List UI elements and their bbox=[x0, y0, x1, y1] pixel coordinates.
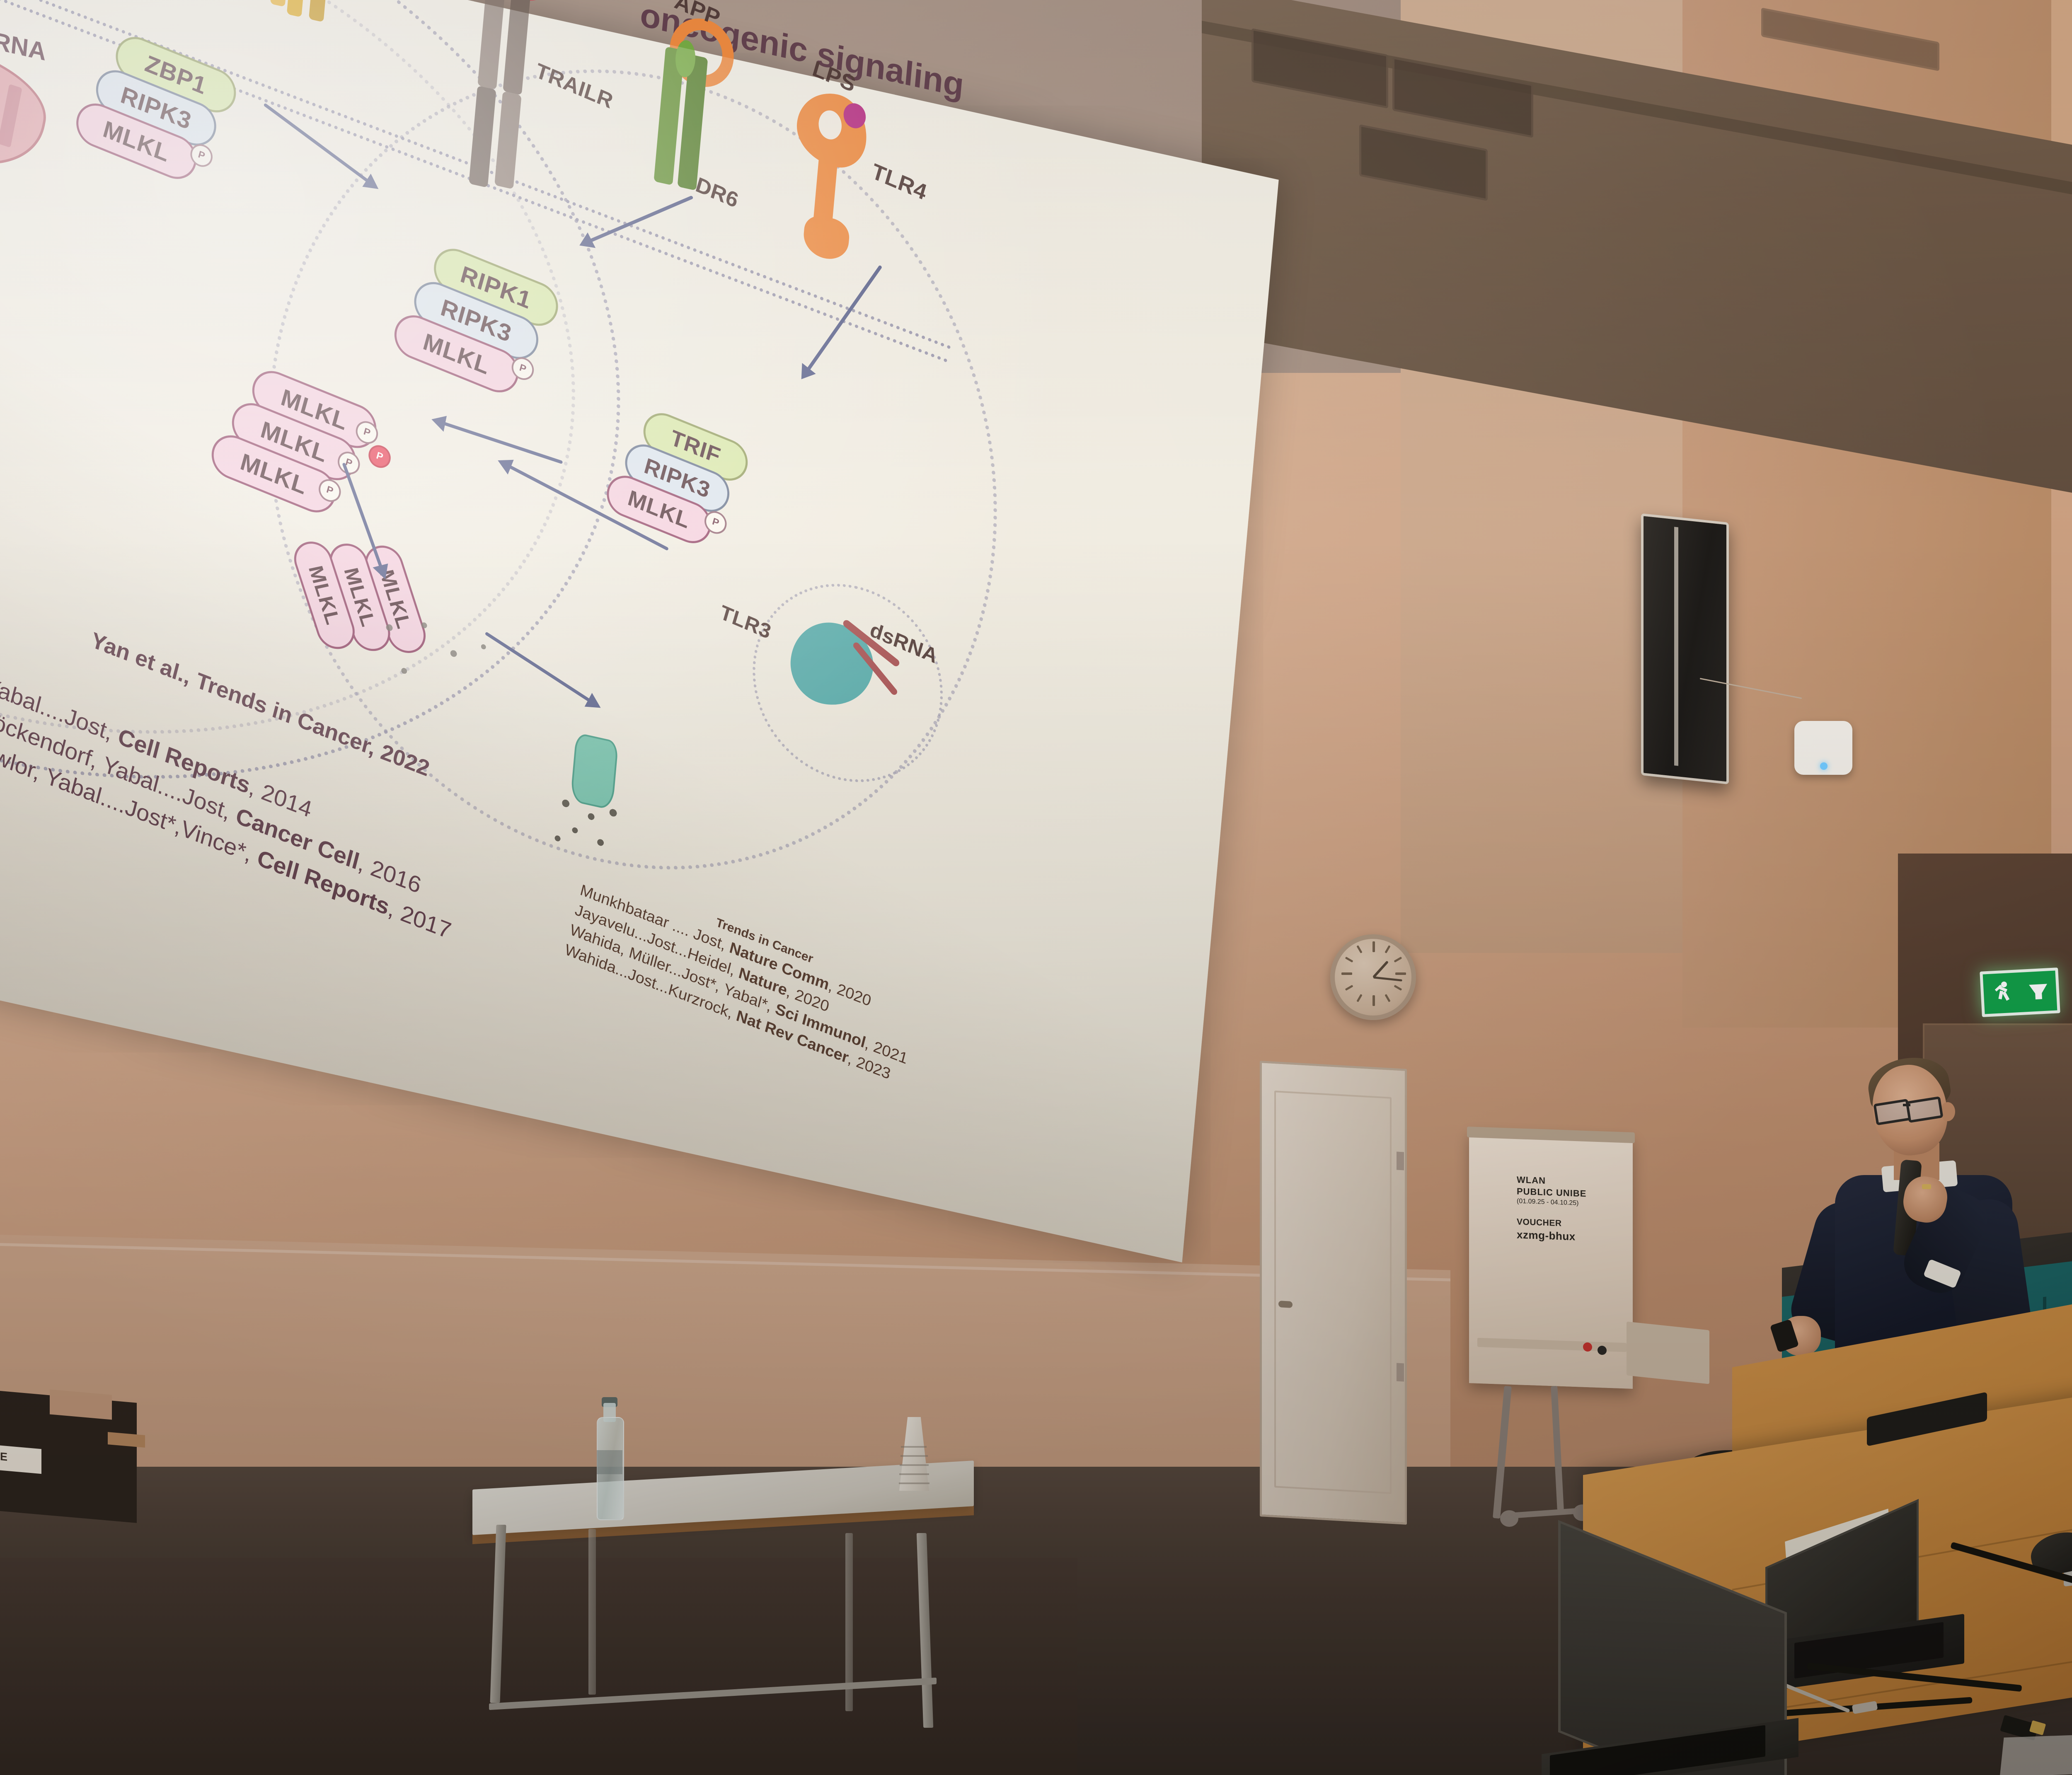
marker-black bbox=[1598, 1346, 1607, 1355]
door-panel bbox=[1274, 1091, 1392, 1494]
speaker-grill-line bbox=[1674, 527, 1678, 766]
door-hinge bbox=[1397, 1151, 1404, 1170]
wifi-status-led bbox=[1820, 762, 1828, 770]
clock-hour-hand bbox=[1372, 960, 1388, 978]
ring bbox=[1922, 1184, 1931, 1189]
eyeglasses-bridge bbox=[1903, 1104, 1910, 1106]
lecture-hall-photograph: Viral infection oncogenic signaling mtDN… bbox=[0, 0, 2072, 1775]
sign-label-text: PE bbox=[0, 1449, 7, 1463]
wall-loudspeaker bbox=[1641, 513, 1729, 784]
table-leg bbox=[588, 1529, 596, 1695]
exit-down-arrow-icon bbox=[2029, 984, 2048, 999]
running-person-icon bbox=[1992, 980, 2012, 1006]
floor-front bbox=[0, 1558, 1077, 1775]
door-handle[interactable] bbox=[1278, 1301, 1293, 1308]
emergency-exit-sign bbox=[1980, 967, 2060, 1017]
clock-minute-hand bbox=[1373, 976, 1402, 981]
plastic-sheet bbox=[2000, 1734, 2072, 1775]
marker-red bbox=[1583, 1342, 1592, 1352]
small-side-shelf bbox=[1627, 1321, 1709, 1384]
door-hinge bbox=[1397, 1363, 1404, 1381]
wall-clock bbox=[1330, 934, 1416, 1020]
bottle-label bbox=[597, 1450, 622, 1474]
flipchart-notice: WLAN PUBLIC UNIBE (01.09.25 - 04.10.25) … bbox=[1517, 1174, 1624, 1245]
